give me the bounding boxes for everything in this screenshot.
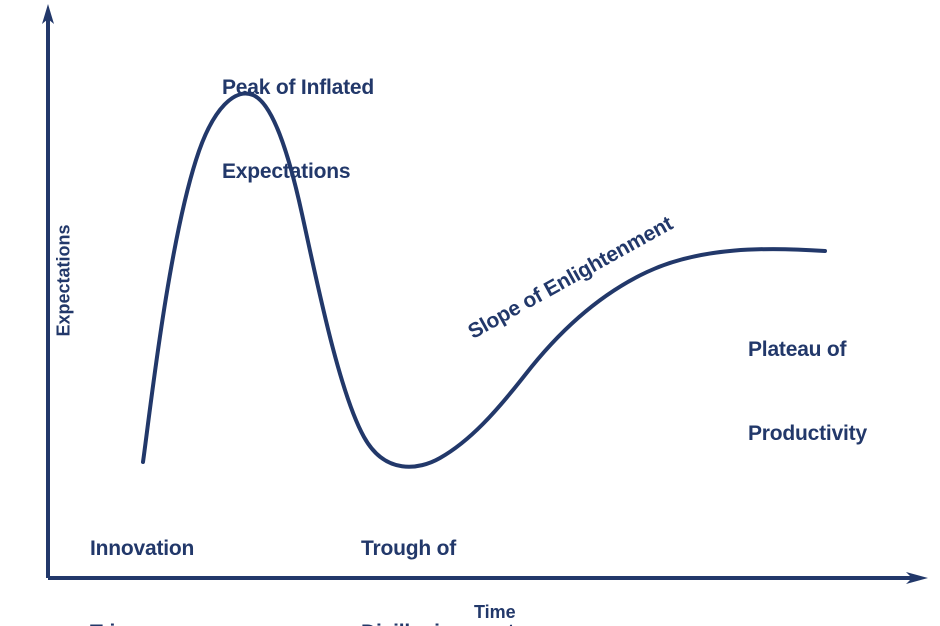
annotation-innovation-trigger: Innovation Trigger (90, 480, 194, 626)
annotation-plateau-line-1: Plateau of (748, 336, 867, 364)
annotation-innovation-line-2: Trigger (90, 619, 194, 626)
annotation-trough-line-1: Trough of (361, 535, 514, 563)
hype-cycle-chart: Peak of Inflated Expectations Innovation… (0, 0, 940, 626)
annotation-plateau-of-productivity: Plateau of Productivity (748, 281, 867, 503)
x-axis-label: Time (474, 602, 516, 623)
annotation-peak-line-2: Expectations (222, 158, 374, 186)
annotation-plateau-line-2: Productivity (748, 420, 867, 448)
annotation-peak-of-inflated-expectations: Peak of Inflated Expectations (222, 19, 374, 241)
y-axis-label: Expectations (54, 224, 75, 336)
annotation-innovation-line-1: Innovation (90, 535, 194, 563)
annotation-peak-line-1: Peak of Inflated (222, 74, 374, 102)
